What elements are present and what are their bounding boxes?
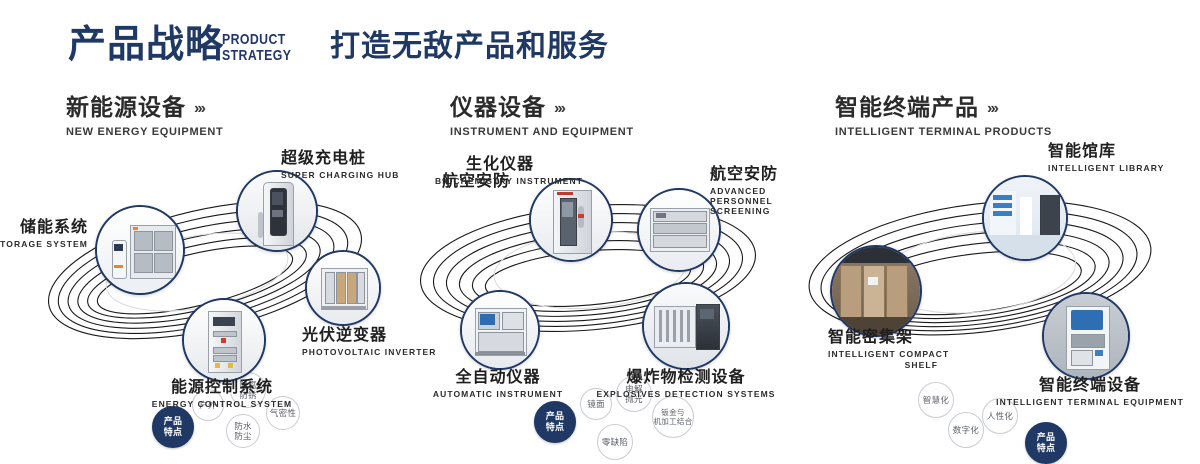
node-photo-intelligent-compact-shelf[interactable] [830,245,922,337]
node-photo-photovoltaic-inverter[interactable] [305,250,381,326]
node-photo-energy-control-system[interactable] [182,298,266,382]
feature-bubble-label: 零缺陷 [602,437,628,447]
core-bubble-line1: 产品 [546,411,565,421]
feature-bubble-label: 钣金与机加工结合 [654,408,693,426]
photo-automatic-instrument [462,292,538,368]
node-label-en: ENERGY CONTROL SYSTEM [112,399,332,410]
feature-bubble-zerodefect: 零缺陷 [597,424,633,460]
node-label-en-line1: INTELLIGENT COMPACT [828,349,949,359]
node-label-cn: 智能终端设备 [995,376,1185,395]
feature-bubble-label: 人性化 [987,411,1013,421]
node-photo-energy-storage[interactable] [95,205,185,295]
photo-explosives-detection [644,284,728,368]
feature-bubble-digital: 数字化 [948,412,984,448]
photo-energy-storage [97,207,183,293]
section-heading-cn: 智能终端产品››› [835,96,1052,119]
photo-intelligent-terminal-equipment [1044,294,1128,378]
section-heading-cn-text: 仪器设备 [450,94,546,120]
core-bubble-line2: 特点 [164,427,183,437]
page-subtitle: 打造无敌产品和服务 [330,32,609,62]
feature-bubble-waterproof: 防水防尘 [226,414,260,448]
node-label-intelligent-terminal-equipment: 智能终端设备 INTELLIGENT TERMINAL EQUIPMENT [995,376,1185,408]
page-title-english-line1: PRODUCT [222,32,291,48]
node-label-en: INTELLIGENT COMPACT SHELF [828,349,938,371]
node-label-energy-control-system: 能源控制系统 ENERGY CONTROL SYSTEM [112,378,332,410]
node-label-en: AUTOMATIC INSTRUMENT [408,389,588,400]
feature-bubble-label: 防水防尘 [234,421,252,441]
node-label-cn: 储能系统 [0,218,88,237]
node-label-en: INTELLIGENT LIBRARY [1048,163,1200,174]
node-label-en-text: BIOCHEMISTRY INSTRUMENT [435,176,583,186]
node-label-cn: 智能馆库 [1048,142,1200,161]
core-bubble-line1: 产品 [164,416,183,426]
feature-bubble-sheetmetal: 钣金与机加工结合 [652,396,694,438]
photo-energy-control-system [184,300,264,380]
node-label-cn: 生化仪器 [435,155,565,174]
page-title-english: PRODUCT STRATEGY [222,32,291,64]
feature-bubble-label: 镜面 [587,399,605,409]
core-bubble-text: 产品特点 [164,416,183,438]
section-heading-en: INTELLIGENT TERMINAL PRODUCTS [835,126,1052,138]
photo-intelligent-library [984,177,1066,259]
node-photo-explosives-detection[interactable] [642,282,730,370]
node-label-en-text: ADVANCED PERSONNEL SCREENING [710,186,773,216]
node-label-cn: 爆炸物检测设备 [596,368,776,387]
node-label-en: EXPLOSIVES DETECTION SYSTEMS [596,389,776,400]
node-photo-super-charging-hub[interactable] [236,170,318,252]
node-photo-intelligent-library[interactable] [982,175,1068,261]
node-photo-automatic-instrument[interactable] [460,290,540,370]
section-heading-en: INSTRUMENT AND EQUIPMENT [450,126,634,138]
node-label-explosives-detection: 爆炸物检测设备 EXPLOSIVES DETECTION SYSTEMS [596,368,776,400]
node-label-en: INTELLIGENT TERMINAL EQUIPMENT [995,397,1185,408]
page-title-english-line2: STRATEGY [222,48,291,64]
feature-bubble-line2: 防尘 [234,431,252,441]
page-title: 产品战略 [68,26,224,64]
core-bubble-instrument: 产品特点 [534,401,576,443]
chevron-right-icon: ››› [194,101,204,117]
node-label-biochemistry-instrument: 生化仪器 BIOCHEMISTRY INSTRUMENT [435,155,565,186]
node-label-super-charging-hub: 超级充电桩 SUPER CHARGING HUB [243,149,307,181]
chevron-right-icon: ››› [554,101,564,117]
section-heading-cn: 仪器设备››› [450,96,634,119]
photo-advanced-personnel-screening [639,190,719,270]
section-heading-cn-text: 智能终端产品 [835,94,979,120]
node-photo-biochemistry-instrument[interactable] [529,178,613,262]
node-label-energy-storage: 储能系统 ENERGY STORAGE SYSTEM [0,218,88,250]
section-heading-en: NEW ENERGY EQUIPMENT [66,126,223,138]
node-label-cn: 全自动仪器 [408,368,588,387]
node-label-cn: 超级充电桩 [281,149,345,168]
node-label-intelligent-library: 智能馆库 INTELLIGENT LIBRARY [1048,142,1200,174]
node-label-intelligent-compact-shelf: 智能密集架 INTELLIGENT COMPACT SHELF [828,328,998,371]
diagram-intelligent-terminal: 智慧化 人性化 数字化 产品特点 智能馆库 INTELLIGENT LIB [790,150,1200,415]
feature-bubble-label: 数字化 [953,425,979,435]
photo-photovoltaic-inverter [307,252,379,324]
node-label-en-line2: SHELF [905,360,938,370]
node-photo-advanced-personnel-screening[interactable] [637,188,721,272]
feature-bubble-label: 智慧化 [923,395,949,405]
section-heading-instrument: 仪器设备››› INSTRUMENT AND EQUIPMENT [450,96,634,138]
node-label-en: ENERGY STORAGE SYSTEM [0,239,88,250]
core-bubble-new-energy: 产品特点 [152,406,194,448]
photo-super-charging-hub [238,172,316,250]
product-strategy-infographic: 产品战略 PRODUCT STRATEGY 打造无敌产品和服务 新能源设备›››… [0,0,1200,422]
core-bubble-line1: 产品 [1037,432,1056,442]
section-heading-intelligent-terminal: 智能终端产品››› INTELLIGENT TERMINAL PRODUCTS [835,96,1052,138]
section-heading-new-energy: 新能源设备››› NEW ENERGY EQUIPMENT [66,96,223,138]
feature-bubble-line1: 钣金与 [661,408,684,417]
feature-bubble-intelligent: 智慧化 [918,382,954,418]
core-bubble-line2: 特点 [1037,443,1056,453]
core-bubble-line2: 特点 [546,422,565,432]
section-heading-cn-text: 新能源设备 [66,94,186,120]
node-label-cn: 智能密集架 [828,328,998,347]
node-label-cn: 能源控制系统 [112,378,332,397]
diagram-instrument: 产品特点 镜面 电解抛光 钣金与机加工结合 零缺陷 航空安防 [400,150,800,415]
photo-biochemistry-instrument [531,180,611,260]
photo-intelligent-compact-shelf [832,247,920,335]
page-header: 产品战略 PRODUCT STRATEGY 打造无敌产品和服务 [0,0,1200,88]
node-label-en: BIOCHEMISTRY INSTRUMENT [435,176,565,186]
node-photo-intelligent-terminal-equipment[interactable] [1042,292,1130,380]
core-bubble-text: 产品特点 [546,411,565,433]
node-label-automatic-instrument: 全自动仪器 AUTOMATIC INSTRUMENT [408,368,588,400]
chevron-right-icon: ››› [987,101,997,117]
section-heading-cn: 新能源设备››› [66,96,223,119]
core-bubble-text: 产品特点 [1037,432,1056,454]
core-bubble-intelligent-terminal: 产品特点 [1025,422,1067,464]
feature-bubble-line1: 防水 [234,421,252,431]
